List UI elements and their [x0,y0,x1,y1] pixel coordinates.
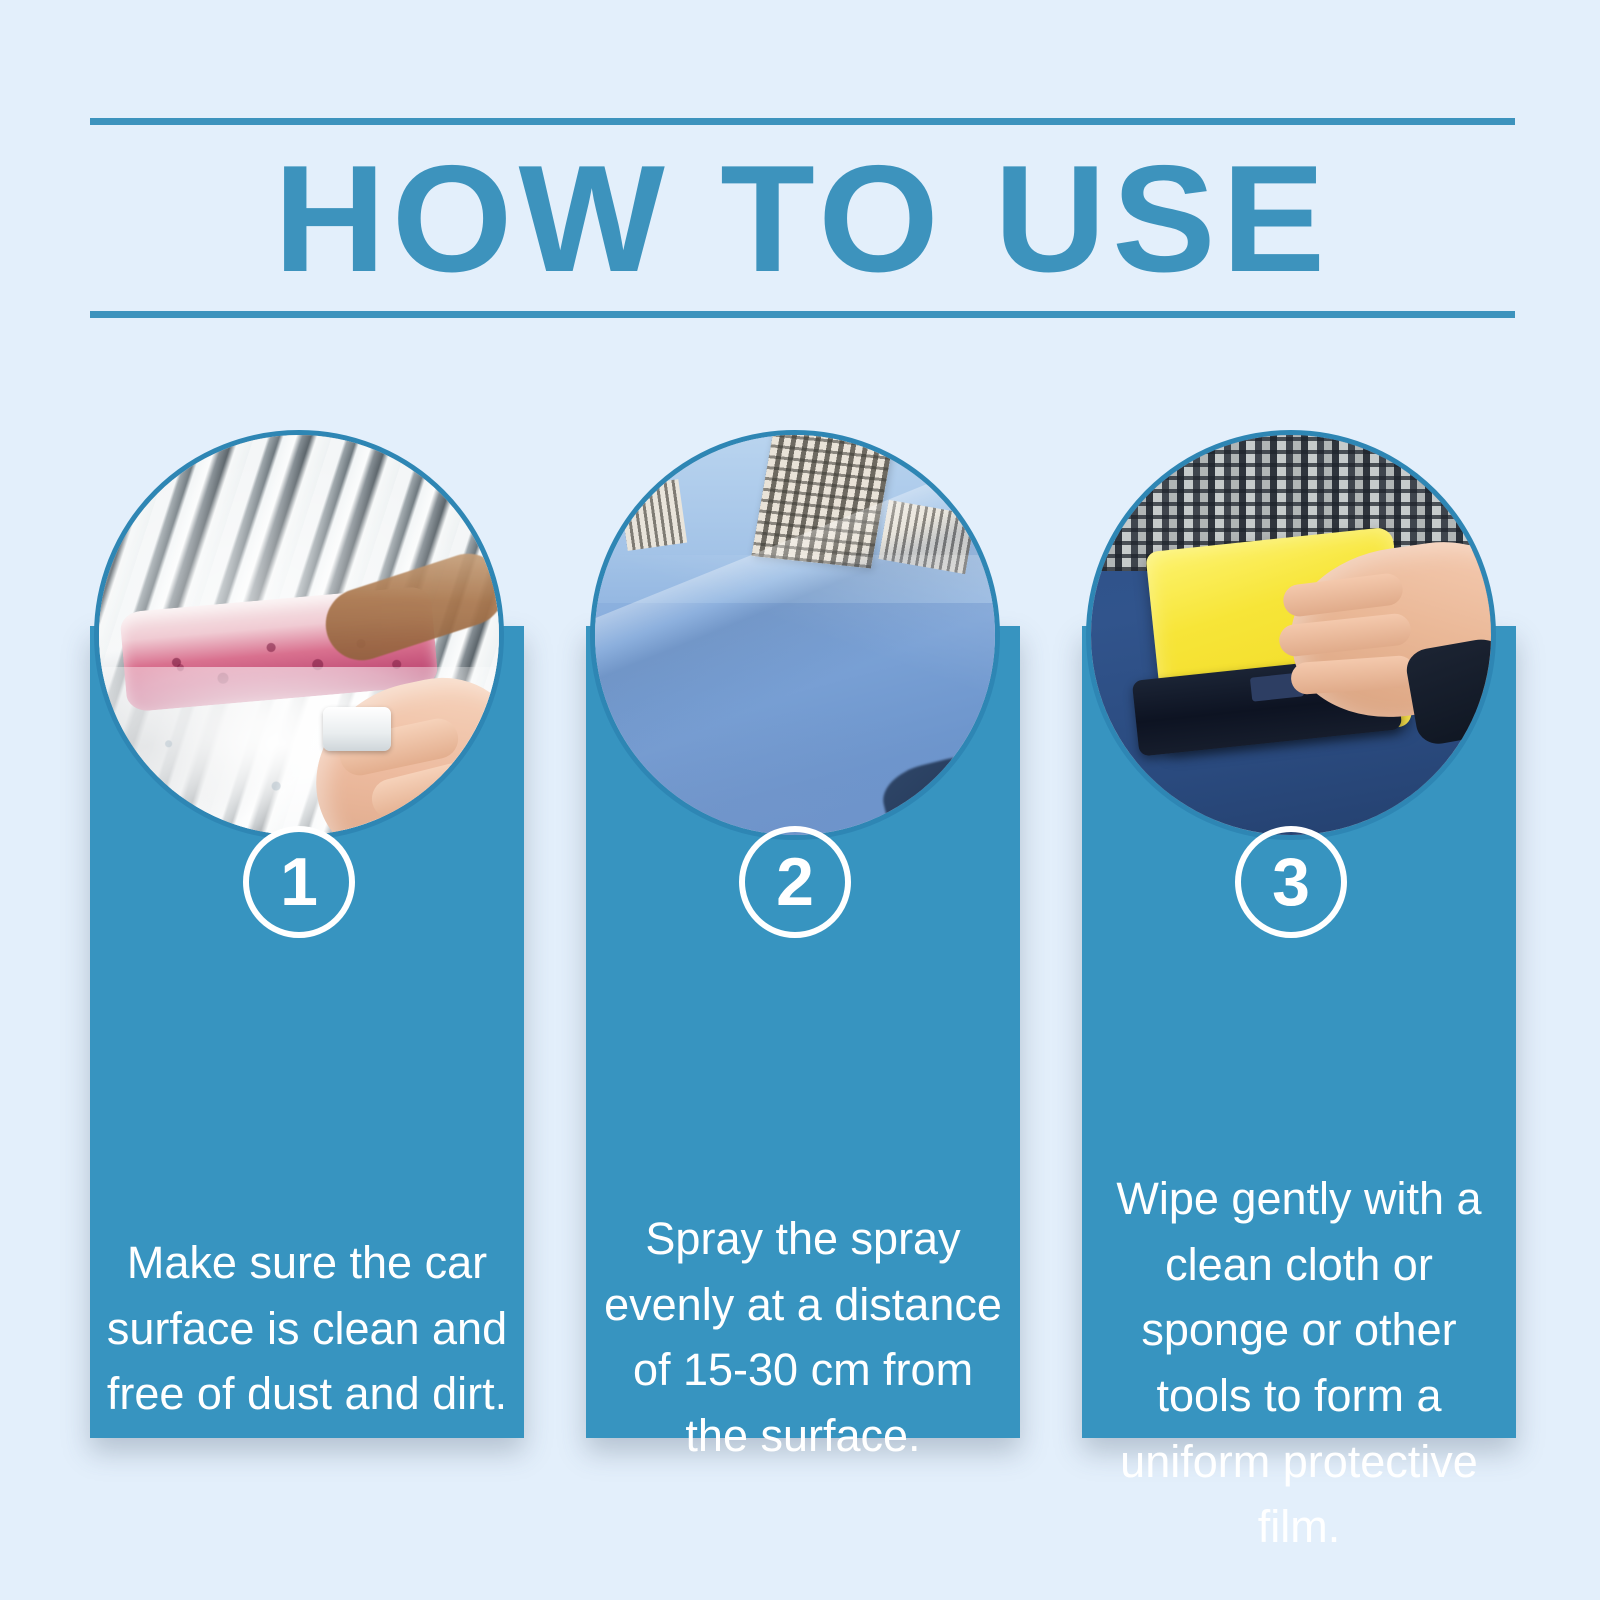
header-rule-top [90,118,1515,125]
soapy-car-photo [99,435,499,835]
step-image-1 [94,430,504,840]
step-description-3: Wipe gently with a clean cloth or sponge… [1082,1166,1516,1560]
step-description-1: Make sure the car surface is clean and f… [90,1230,524,1427]
step-number-badge-3: 3 [1235,826,1347,938]
glossy-car-hood-photo [595,435,995,835]
step-number-badge-1: 1 [243,826,355,938]
header-rule-bottom [90,311,1515,318]
cleaning-tablet [323,707,391,751]
header: HOW TO USE [90,118,1515,318]
step-number-badge-2: 2 [739,826,851,938]
steps-container: Make sure the car surface is clean and f… [90,430,1515,1445]
page-title: HOW TO USE [76,125,1530,311]
sleeve [1403,635,1496,748]
building-reflection-left [619,479,687,551]
step-image-3 [1086,430,1496,840]
step-image-2 [590,430,1000,840]
wiping-towel-photo [1091,435,1491,835]
step-description-2: Spray the spray evenly at a distance of … [586,1206,1020,1469]
